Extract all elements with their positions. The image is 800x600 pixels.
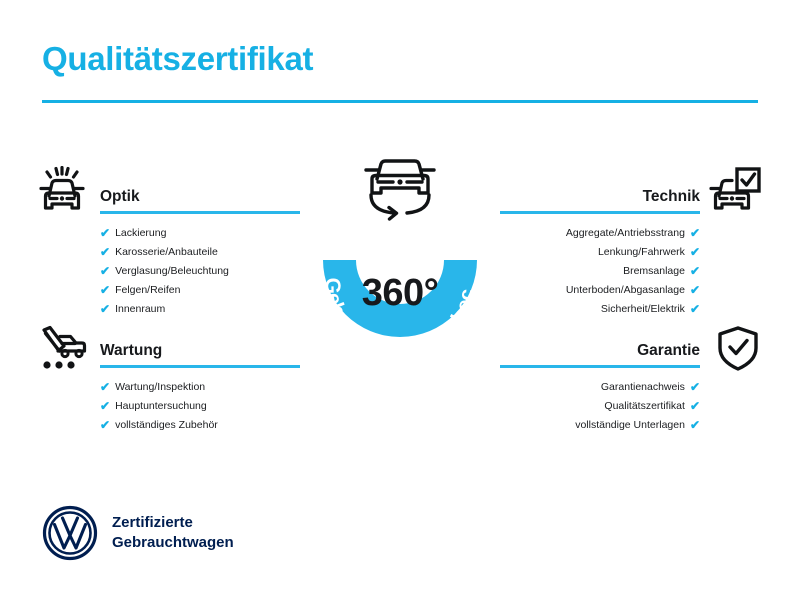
section-divider bbox=[500, 211, 700, 214]
list-item: ✔Innenraum bbox=[100, 300, 300, 319]
list-item-label: Unterboden/Abgasanlage bbox=[566, 281, 685, 300]
list-item: Sicherheit/Elektrik✔ bbox=[500, 300, 700, 319]
list-item-label: Hauptuntersuchung bbox=[115, 397, 207, 416]
check-icon: ✔ bbox=[690, 381, 700, 393]
badge-value: 360° bbox=[296, 272, 504, 315]
list-item-label: Innenraum bbox=[115, 300, 165, 319]
check-icon: ✔ bbox=[100, 419, 110, 431]
list-item-label: Karosserie/Anbauteile bbox=[115, 243, 218, 262]
list-item-label: Verglasung/Beleuchtung bbox=[115, 262, 229, 281]
section-wartung: Wartung ✔Wartung/Inspektion ✔Hauptunters… bbox=[100, 341, 300, 435]
section-list: Garantienachweis✔ Qualitätszertifikat✔ v… bbox=[500, 378, 700, 435]
section-divider bbox=[500, 365, 700, 368]
section-heading: Garantie bbox=[500, 341, 700, 361]
vw-logo-line-1: Zertifizierte bbox=[112, 513, 234, 533]
car-service-pen-icon bbox=[36, 324, 88, 379]
list-item-label: Qualitätszertifikat bbox=[604, 397, 685, 416]
check-icon: ✔ bbox=[100, 284, 110, 296]
list-item-label: vollständiges Zubehör bbox=[115, 416, 218, 435]
list-item: Garantienachweis✔ bbox=[500, 378, 700, 397]
car-rotate-360-icon bbox=[351, 150, 449, 222]
section-heading: Wartung bbox=[100, 341, 300, 361]
section-list: ✔Wartung/Inspektion ✔Hauptuntersuchung ✔… bbox=[100, 378, 300, 435]
list-item: ✔Lackierung bbox=[100, 224, 300, 243]
check-icon: ✔ bbox=[690, 419, 700, 431]
check-icon: ✔ bbox=[690, 227, 700, 239]
check-icon: ✔ bbox=[690, 246, 700, 258]
list-item-label: Garantienachweis bbox=[601, 378, 685, 397]
list-item-label: Felgen/Reifen bbox=[115, 281, 180, 300]
list-item-label: Bremsanlage bbox=[623, 262, 685, 281]
list-item-label: Aggregate/Antriebsstrang bbox=[566, 224, 685, 243]
list-item: Lenkung/Fahrwerk✔ bbox=[500, 243, 700, 262]
vw-logo-line-2: Gebrauchtwagen bbox=[112, 533, 234, 553]
list-item-label: Sicherheit/Elektrik bbox=[601, 300, 685, 319]
list-item-label: Wartung/Inspektion bbox=[115, 378, 205, 397]
check-icon: ✔ bbox=[100, 303, 110, 315]
list-item: Unterboden/Abgasanlage✔ bbox=[500, 281, 700, 300]
car-front-shine-icon bbox=[36, 166, 88, 221]
check-icon: ✔ bbox=[690, 400, 700, 412]
section-heading: Technik bbox=[500, 187, 700, 207]
360-check-badge: Gebrauchtwagen-Check 360° bbox=[296, 150, 504, 372]
list-item-label: Lackierung bbox=[115, 224, 166, 243]
check-icon: ✔ bbox=[100, 265, 110, 277]
list-item: vollständige Unterlagen✔ bbox=[500, 416, 700, 435]
vw-certified-logo: Zertifizierte Gebrauchtwagen bbox=[42, 505, 234, 561]
list-item: Bremsanlage✔ bbox=[500, 262, 700, 281]
check-icon: ✔ bbox=[690, 284, 700, 296]
section-technik: Technik Aggregate/Antriebsstrang✔ Lenkun… bbox=[500, 187, 700, 319]
page-title: Qualitätszertifikat bbox=[42, 40, 313, 78]
list-item: ✔vollständiges Zubehör bbox=[100, 416, 300, 435]
vw-logo-text: Zertifizierte Gebrauchtwagen bbox=[112, 513, 234, 553]
check-icon: ✔ bbox=[100, 400, 110, 412]
list-item: ✔Wartung/Inspektion bbox=[100, 378, 300, 397]
list-item-label: Lenkung/Fahrwerk bbox=[598, 243, 685, 262]
check-icon: ✔ bbox=[100, 381, 110, 393]
check-icon: ✔ bbox=[100, 246, 110, 258]
section-divider bbox=[100, 211, 300, 214]
list-item: ✔Felgen/Reifen bbox=[100, 281, 300, 300]
car-front-checkbox-icon bbox=[708, 166, 762, 221]
section-divider bbox=[100, 365, 300, 368]
title-divider bbox=[42, 100, 758, 103]
list-item: Qualitätszertifikat✔ bbox=[500, 397, 700, 416]
list-item: ✔Verglasung/Beleuchtung bbox=[100, 262, 300, 281]
section-list: ✔Lackierung ✔Karosserie/Anbauteile ✔Verg… bbox=[100, 224, 300, 319]
shield-check-icon bbox=[714, 324, 762, 379]
section-garantie: Garantie Garantienachweis✔ Qualitätszert… bbox=[500, 341, 700, 435]
list-item-label: vollständige Unterlagen bbox=[575, 416, 685, 435]
section-list: Aggregate/Antriebsstrang✔ Lenkung/Fahrwe… bbox=[500, 224, 700, 319]
check-icon: ✔ bbox=[690, 265, 700, 277]
section-heading: Optik bbox=[100, 187, 300, 207]
list-item: ✔Karosserie/Anbauteile bbox=[100, 243, 300, 262]
certificate-page: Qualitätszertifikat bbox=[0, 0, 800, 600]
check-icon: ✔ bbox=[100, 227, 110, 239]
check-icon: ✔ bbox=[690, 303, 700, 315]
list-item: ✔Hauptuntersuchung bbox=[100, 397, 300, 416]
list-item: Aggregate/Antriebsstrang✔ bbox=[500, 224, 700, 243]
section-optik: Optik ✔Lackierung ✔Karosserie/Anbauteile… bbox=[100, 187, 300, 319]
vw-logo-icon bbox=[42, 505, 98, 561]
